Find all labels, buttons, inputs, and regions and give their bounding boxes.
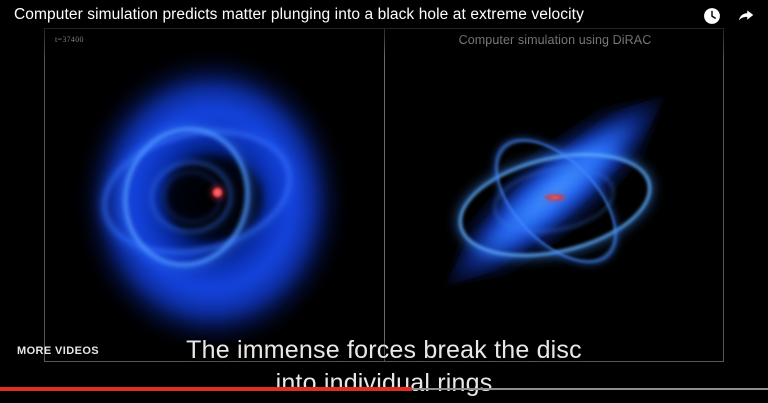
- black-hole-marker: [545, 195, 565, 200]
- video-player[interactable]: t=37400 Computer simulation using DiRAC …: [0, 0, 768, 403]
- simulation-timestamp: t=37400: [55, 35, 84, 44]
- progress-played: [0, 387, 412, 391]
- top-action-buttons: [702, 6, 756, 26]
- watch-later-icon[interactable]: [702, 6, 722, 26]
- black-hole-marker: [212, 187, 223, 198]
- caption-line-2: into individual rings: [0, 367, 768, 400]
- progress-bar[interactable]: [0, 387, 768, 391]
- more-videos-label[interactable]: MORE VIDEOS: [17, 345, 99, 357]
- share-icon[interactable]: [736, 6, 756, 26]
- caption-line-1: The immense forces break the disc: [0, 334, 768, 367]
- video-title[interactable]: Computer simulation predicts matter plun…: [14, 6, 584, 24]
- simulation-video-frame: t=37400 Computer simulation using DiRAC: [44, 28, 724, 362]
- panel-divider: [384, 29, 385, 362]
- tilted-disc-group: [385, 29, 724, 362]
- simulation-credit-label: Computer simulation using DiRAC: [385, 33, 724, 47]
- left-simulation-panel: t=37400: [45, 29, 384, 362]
- right-simulation-panel: Computer simulation using DiRAC: [385, 29, 724, 362]
